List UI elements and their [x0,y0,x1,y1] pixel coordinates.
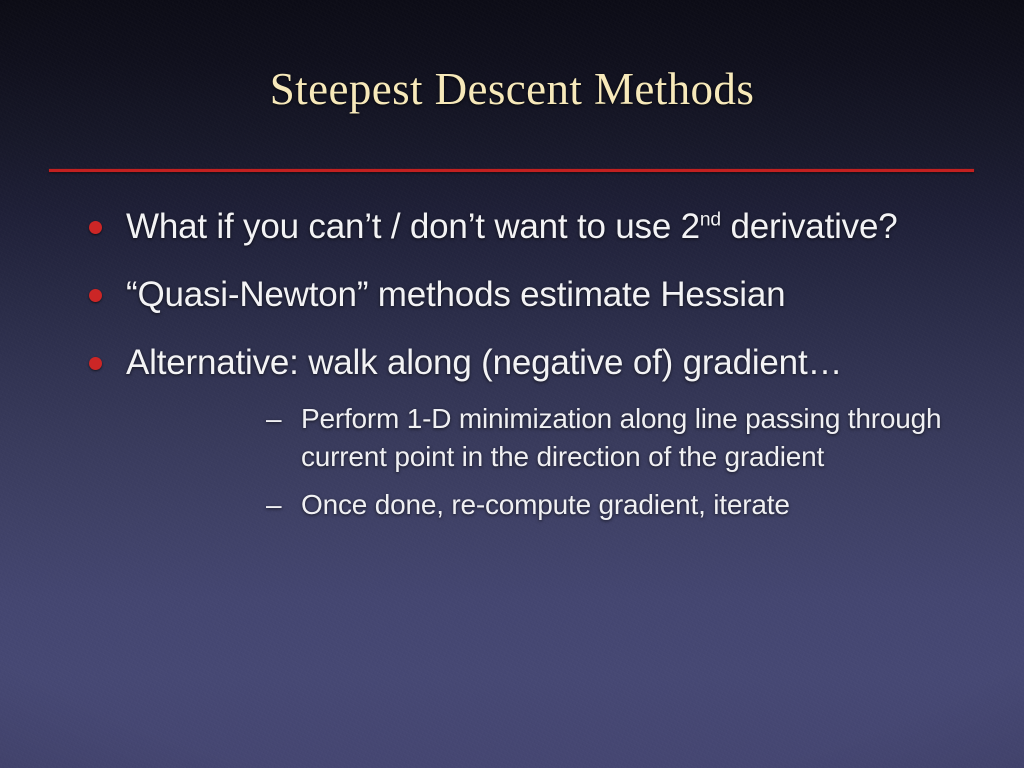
presentation-slide: Steepest Descent Methods What if you can… [0,0,1024,768]
bullet-item-3-text: Alternative: walk along (negative of) gr… [126,340,966,386]
slide-title: Steepest Descent Methods [0,62,1024,116]
bullet-list: What if you can’t / don’t want to use 2n… [0,204,1024,546]
bullet-dot-icon [89,221,102,234]
en-dash-marker-icon: – [266,400,281,438]
bullet-dot-icon [89,289,102,302]
slide-content: Steepest Descent Methods What if you can… [0,0,1024,768]
bullet-item-1-text: What if you can’t / don’t want to use 2n… [126,204,966,250]
sub-bullet-item-1: – Perform 1-D minimization along line pa… [126,400,1024,476]
sub-bullet-list: – Perform 1-D minimization along line pa… [126,400,1024,524]
sub-bullet-item-2: – Once done, re-compute gradient, iterat… [126,486,1024,524]
title-divider-rule [49,169,974,172]
bullet-1-superscript: nd [700,209,721,230]
sub-bullet-item-2-text: Once done, re-compute gradient, iterate [301,486,1024,524]
bullet-1-text-after-superscript: derivative? [721,207,898,246]
bullet-1-text-before-superscript: What if you can’t / don’t want to use 2 [126,207,700,246]
bullet-item-2-text: “Quasi-Newton” methods estimate Hessian [126,272,966,318]
bullet-item-3: Alternative: walk along (negative of) gr… [0,340,1024,524]
en-dash-marker-icon: – [266,486,281,524]
bullet-item-1: What if you can’t / don’t want to use 2n… [0,204,1024,250]
bullet-dot-icon [89,357,102,370]
bullet-item-2: “Quasi-Newton” methods estimate Hessian [0,272,1024,318]
sub-bullet-item-1-text: Perform 1-D minimization along line pass… [301,400,1024,476]
